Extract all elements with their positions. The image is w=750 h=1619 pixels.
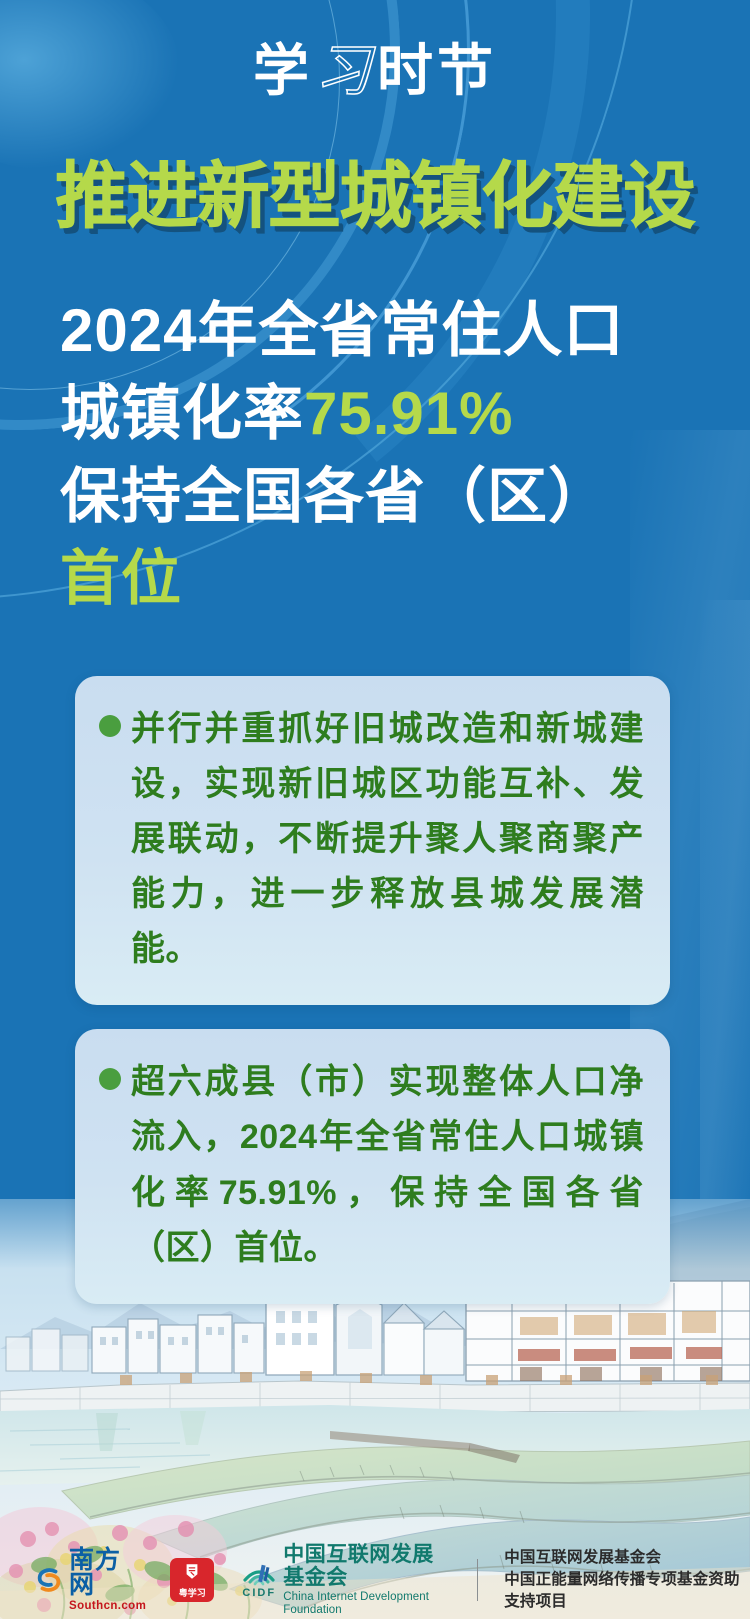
info-card-row: 超六成县（市）实现整体人口净流入，2024年全省常住人口城镇化率75.91%，保… xyxy=(99,1055,644,1275)
fund-note: 中国互联网发展基金会 中国正能量网络传播专项基金资助支持项目 xyxy=(504,1547,750,1613)
southcn-logo[interactable]: 南方网 Southcn.com xyxy=(34,1548,146,1613)
brand-logo: 学习时节 xyxy=(0,44,750,100)
yuexuexi-label: 粤学习 xyxy=(179,1586,206,1599)
cidf-logo[interactable]: CIDF 中国互联网发展基金会 China Internet Developme… xyxy=(242,1544,453,1616)
southcn-name-en: Southcn.com xyxy=(69,1601,146,1613)
cidf-abbreviation: CIDF xyxy=(242,1587,276,1599)
cidf-wifi-globe-icon xyxy=(242,1562,276,1586)
decor-streak-right-2 xyxy=(700,600,750,1220)
bullet-dot-icon xyxy=(99,715,121,737)
info-card-list: 并行并重抓好旧城改造和新城建设，实现新旧城区功能互补、发展联动，不断提升聚人聚商… xyxy=(75,676,670,1328)
subtitle-block: 2024年全省常住人口 城镇化率75.91% 保持全国各省（区） 首位 xyxy=(60,290,700,621)
southcn-wordmark: 南方网 Southcn.com xyxy=(69,1548,146,1613)
info-card: 并行并重抓好旧城改造和新城建设，实现新旧城区功能互补、发展联动，不断提升聚人聚商… xyxy=(75,676,670,1005)
southcn-name-cn: 南方网 xyxy=(69,1548,146,1598)
brand-char-xi-cursive: 习 xyxy=(313,41,377,103)
info-card-text: 超六成县（市）实现整体人口净流入，2024年全省常住人口城镇化率75.91%，保… xyxy=(131,1055,644,1275)
bullet-dot-icon xyxy=(99,1068,121,1090)
subtitle-line-1: 2024年全省常住人口 xyxy=(60,290,700,373)
poster-root: 学习时节 推进新型城镇化建设 2024年全省常住人口 城镇化率75.91% 保持… xyxy=(0,0,750,1619)
cidf-name-en: China Internet Development Foundation xyxy=(283,1591,453,1616)
fund-note-line-1: 中国互联网发展基金会 xyxy=(504,1547,750,1569)
footer-divider xyxy=(477,1559,478,1601)
brand-chars-shijie: 时节 xyxy=(377,41,497,103)
brand-logo-text: 学习时节 xyxy=(253,44,497,100)
fund-note-line-2: 中国正能量网络传播专项基金资助支持项目 xyxy=(504,1569,750,1613)
info-card-text: 并行并重抓好旧城改造和新城建设，实现新旧城区功能互补、发展联动，不断提升聚人聚商… xyxy=(131,702,644,977)
subtitle-urbanization-rate: 75.91% xyxy=(304,380,514,447)
yuexuexi-mark-icon xyxy=(183,1562,201,1581)
footer-bar: 南方网 Southcn.com 粤学习 CIDF xyxy=(0,1541,750,1619)
yuexuexi-logo[interactable]: 粤学习 xyxy=(170,1558,214,1602)
cidf-mark: CIDF xyxy=(242,1562,276,1599)
subtitle-line-2: 城镇化率75.91% xyxy=(60,373,700,456)
cidf-name-cn: 中国互联网发展基金会 xyxy=(283,1544,453,1589)
subtitle-line-4-rank: 首位 xyxy=(60,538,700,621)
brand-char-xue: 学 xyxy=(253,41,313,103)
page-title: 推进新型城镇化建设 xyxy=(0,160,750,236)
subtitle-line-3: 保持全国各省（区） xyxy=(60,456,700,539)
info-card: 超六成县（市）实现整体人口净流入，2024年全省常住人口城镇化率75.91%，保… xyxy=(75,1029,670,1303)
subtitle-line-2-prefix: 城镇化率 xyxy=(60,380,304,447)
info-card-row: 并行并重抓好旧城改造和新城建设，实现新旧城区功能互补、发展联动，不断提升聚人聚商… xyxy=(99,702,644,977)
southcn-swirl-icon xyxy=(34,1565,64,1595)
cidf-wordmark: 中国互联网发展基金会 China Internet Development Fo… xyxy=(283,1544,453,1616)
